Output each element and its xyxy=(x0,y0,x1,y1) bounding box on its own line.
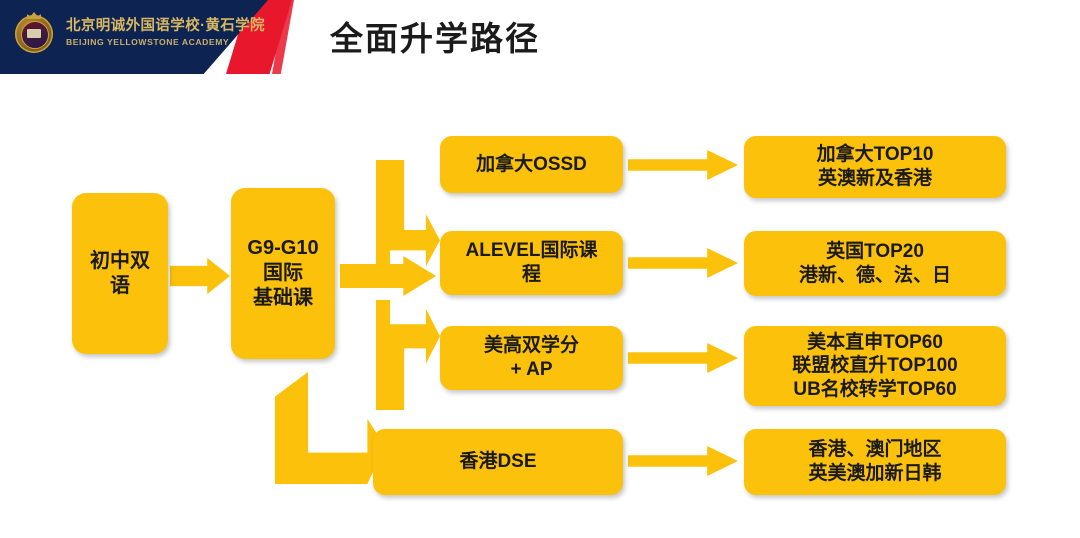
slide-canvas: 北京明诚外国语学校·黄石学院 BEIJING YELLOWSTONE ACADE… xyxy=(0,0,1080,538)
outcome-box-uk-line-1: 英国TOP20 xyxy=(752,240,998,264)
outcome-box-us-line-3: UB名校转学TOP60 xyxy=(752,378,998,402)
outcome-box-uk[interactable]: 英国TOP20 港新、德、法、日 xyxy=(744,231,1006,296)
elbow-connector-to-dse xyxy=(275,372,385,484)
flow-box-start[interactable]: 初中双 语 xyxy=(72,193,168,354)
flow-box-start-lines: 初中双 语 xyxy=(80,249,160,299)
outcome-box-us-line-1: 美本直申TOP60 xyxy=(752,331,998,355)
elbow-connector-to-ossd xyxy=(376,160,440,273)
arrow-program-to-outcome-3 xyxy=(628,341,738,375)
outcome-box-hk-line-1: 香港、澳门地区 xyxy=(752,438,998,462)
flow-box-core-line-1: G9-G10 xyxy=(239,236,327,261)
outcome-box-canada-line-1: 加拿大TOP10 xyxy=(752,143,998,167)
flow-box-core-line-2: 国际 xyxy=(239,261,327,286)
outcome-box-hk-macau[interactable]: 香港、澳门地区 英美澳加新日韩 xyxy=(744,429,1006,495)
program-box-alevel-line-1: ALEVEL国际课 xyxy=(448,239,615,263)
program-box-ap-line-1: 美高双学分 xyxy=(448,334,615,358)
flow-box-start-line-1: 初中双 xyxy=(80,249,160,274)
logo-name-en: BEIJING YELLOWSTONE ACADEMY xyxy=(66,38,265,47)
page-title: 全面升学路径 xyxy=(330,12,540,60)
program-box-ap-dual-credit[interactable]: 美高双学分 + AP xyxy=(440,326,623,390)
crest-icon xyxy=(12,10,58,56)
flow-box-core[interactable]: G9-G10 国际 基础课 xyxy=(231,188,335,359)
arrow-program-to-outcome-2 xyxy=(628,246,738,280)
program-box-alevel[interactable]: ALEVEL国际课 程 xyxy=(440,231,623,295)
flow-box-core-lines: G9-G10 国际 基础课 xyxy=(239,236,327,310)
arrow-program-to-outcome-4 xyxy=(628,444,738,478)
program-box-ap-line-2: + AP xyxy=(448,358,615,382)
program-box-ossd[interactable]: 加拿大OSSD xyxy=(440,136,623,193)
arrow-start-to-core xyxy=(170,258,230,294)
program-box-hkdse[interactable]: 香港DSE xyxy=(373,429,623,495)
outcome-box-hk-line-2: 英美澳加新日韩 xyxy=(752,462,998,486)
program-box-alevel-line-2: 程 xyxy=(448,263,615,287)
arrow-program-to-outcome-1 xyxy=(628,148,738,182)
program-box-hkdse-line-1: 香港DSE xyxy=(381,450,615,474)
outcome-box-canada-line-2: 英澳新及香港 xyxy=(752,167,998,191)
outcome-box-uk-line-2: 港新、德、法、日 xyxy=(752,264,998,288)
outcome-box-us-line-2: 联盟校直升TOP100 xyxy=(752,354,998,378)
school-logo: 北京明诚外国语学校·黄石学院 BEIJING YELLOWSTONE ACADE… xyxy=(12,10,265,56)
outcome-box-us[interactable]: 美本直申TOP60 联盟校直升TOP100 UB名校转学TOP60 xyxy=(744,326,1006,406)
outcome-box-canada[interactable]: 加拿大TOP10 英澳新及香港 xyxy=(744,136,1006,198)
program-box-ossd-line-1: 加拿大OSSD xyxy=(448,153,615,177)
logo-name-cn: 北京明诚外国语学校·黄石学院 xyxy=(66,19,265,34)
flow-box-core-line-3: 基础课 xyxy=(239,286,327,311)
flow-box-start-line-2: 语 xyxy=(80,274,160,299)
elbow-connector-to-apdual xyxy=(376,300,440,410)
